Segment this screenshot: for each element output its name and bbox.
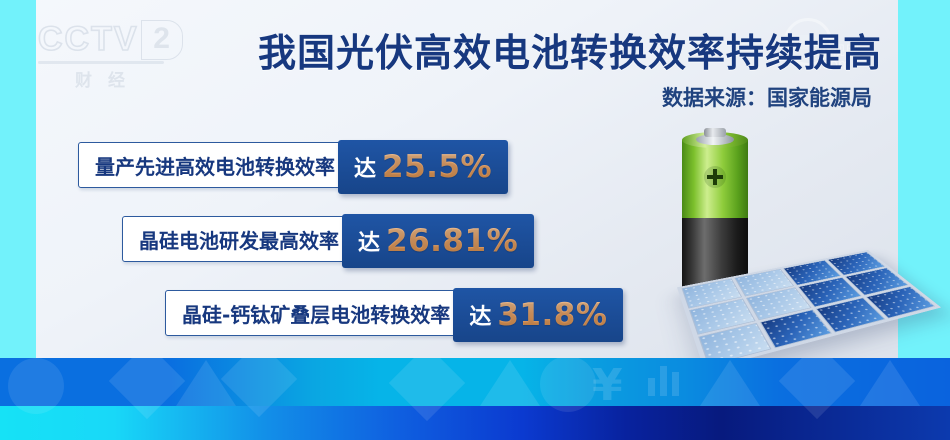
data-row: 晶硅-钙钛矿叠层电池转换效率 达 31.8% [165,288,623,342]
cctv-logo-subtitle: 财经 [38,66,178,91]
metric-label: 晶硅电池研发最高效率 [139,225,339,254]
deco-triangle [700,360,760,406]
metric-value: 25.5% [382,149,492,185]
deco-bar-chart-icon [648,366,679,396]
metric-reach-word: 达 [354,151,376,183]
data-row: 量产先进高效电池转换效率 达 25.5% [78,140,508,194]
metric-value-box: 达 26.81% [342,214,534,268]
metric-reach-word: 达 [469,299,491,331]
deco-circle [8,358,64,414]
data-source-label: 数据来源：国家能源局 [662,82,872,112]
battery-icon [682,128,748,293]
broadcast-infographic-screen: CCTV2 财经 央视网 .com 我国光伏高效电池转换效率持续提高 数据来源：… [0,0,950,440]
metric-value: 31.8% [497,297,607,333]
metric-label-box: 晶硅电池研发最高效率 [122,216,354,262]
illustration-group [640,120,910,360]
deco-triangle [480,360,540,406]
battery-terminal-cap [704,128,726,137]
deco-circle [540,358,596,412]
left-cyan-band [0,0,36,358]
yen-symbol-icon: ¥ [592,360,623,411]
metric-label: 晶硅-钙钛矿叠层电池转换效率 [182,299,450,328]
metric-value-box: 达 31.8% [453,288,623,342]
metric-label-box: 量产先进高效电池转换效率 [78,142,350,188]
metric-reach-word: 达 [358,225,380,257]
cctv-logo-number: 2 [141,20,183,60]
page-title: 我国光伏高效电池转换效率持续提高 [258,22,882,77]
bottom-decoration-bar: ¥ [0,358,950,440]
battery-plus-icon [704,166,726,188]
data-row: 晶硅电池研发最高效率 达 26.81% [122,214,534,268]
metric-label-box: 晶硅-钙钛矿叠层电池转换效率 [165,290,465,336]
cctv-logo-divider [38,61,164,64]
cctv-logo-text: CCTV [38,20,139,58]
metric-label: 量产先进高效电池转换效率 [95,151,335,180]
cctv2-channel-logo: CCTV2 财经 [38,20,178,90]
metric-value: 26.81% [386,223,518,259]
metric-value-box: 达 25.5% [338,140,508,194]
deco-triangle [860,360,920,406]
